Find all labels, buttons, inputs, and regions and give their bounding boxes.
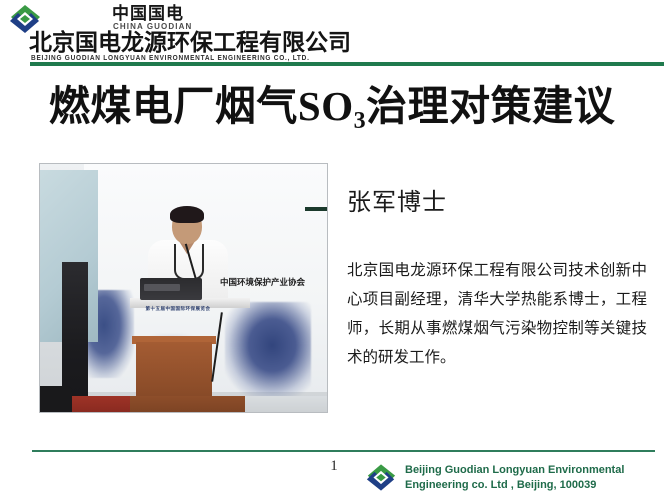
title-suffix: 治理对策建议 xyxy=(366,83,615,129)
photo-foreground-shadow xyxy=(40,386,72,412)
photo-dark-bar xyxy=(305,207,327,211)
title-formula-subscript: 3 xyxy=(354,108,367,134)
photo-ink-mountain-right xyxy=(225,302,311,398)
speaker-name: 张军博士 xyxy=(347,182,447,217)
slide-header: 中国国电 CHINA GUODIAN 北京国电龙源环保工程有限公司 BEIJIN… xyxy=(0,0,664,64)
footer-company-line1: Beijing Guodian Longyuan Environmental xyxy=(405,463,624,478)
photo-podium-banner-cn: 第十五届中国国际环保展览会 xyxy=(146,306,211,311)
photo-speaker-hair xyxy=(170,206,204,223)
photo-podium-base xyxy=(130,396,260,412)
header-divider xyxy=(30,62,664,66)
page-title: 燃煤电厂烟气SO3治理对策建议 xyxy=(0,82,664,137)
photo-backdrop-org-text: 中国环境保护产业协会 xyxy=(220,276,305,288)
brand-name-cn: 中国国电 xyxy=(112,4,184,23)
company-name-en: BEIJING GUODIAN LONGYUAN ENVIRONMENTAL E… xyxy=(31,54,310,62)
photo-podium-banner: 第十五届中国国际环保展览会 xyxy=(126,304,230,320)
footer-divider xyxy=(32,450,655,452)
title-prefix: 燃煤电厂烟气 xyxy=(49,83,298,129)
footer-company-line2: Engineering co. Ltd , Beijing, 100039 xyxy=(405,478,624,493)
speaker-bio: 北京国电龙源环保工程有限公司技术创新中心项目副经理，清华大学热能系博士，工程师，… xyxy=(347,256,647,372)
photo-laptop-keyboard xyxy=(144,284,180,291)
title-formula-main: SO xyxy=(298,83,354,129)
speaker-photo: 中国环境保护产业协会 第十五届中国国际环保展览会 xyxy=(39,163,328,413)
footer-guodian-logo-icon xyxy=(365,463,397,492)
page-number: 1 xyxy=(325,458,343,475)
company-name-cn: 北京国电龙源环保工程有限公司 xyxy=(29,30,351,54)
footer-company-address: Beijing Guodian Longyuan Environmental E… xyxy=(405,463,624,493)
photo-floor-right xyxy=(245,396,328,412)
